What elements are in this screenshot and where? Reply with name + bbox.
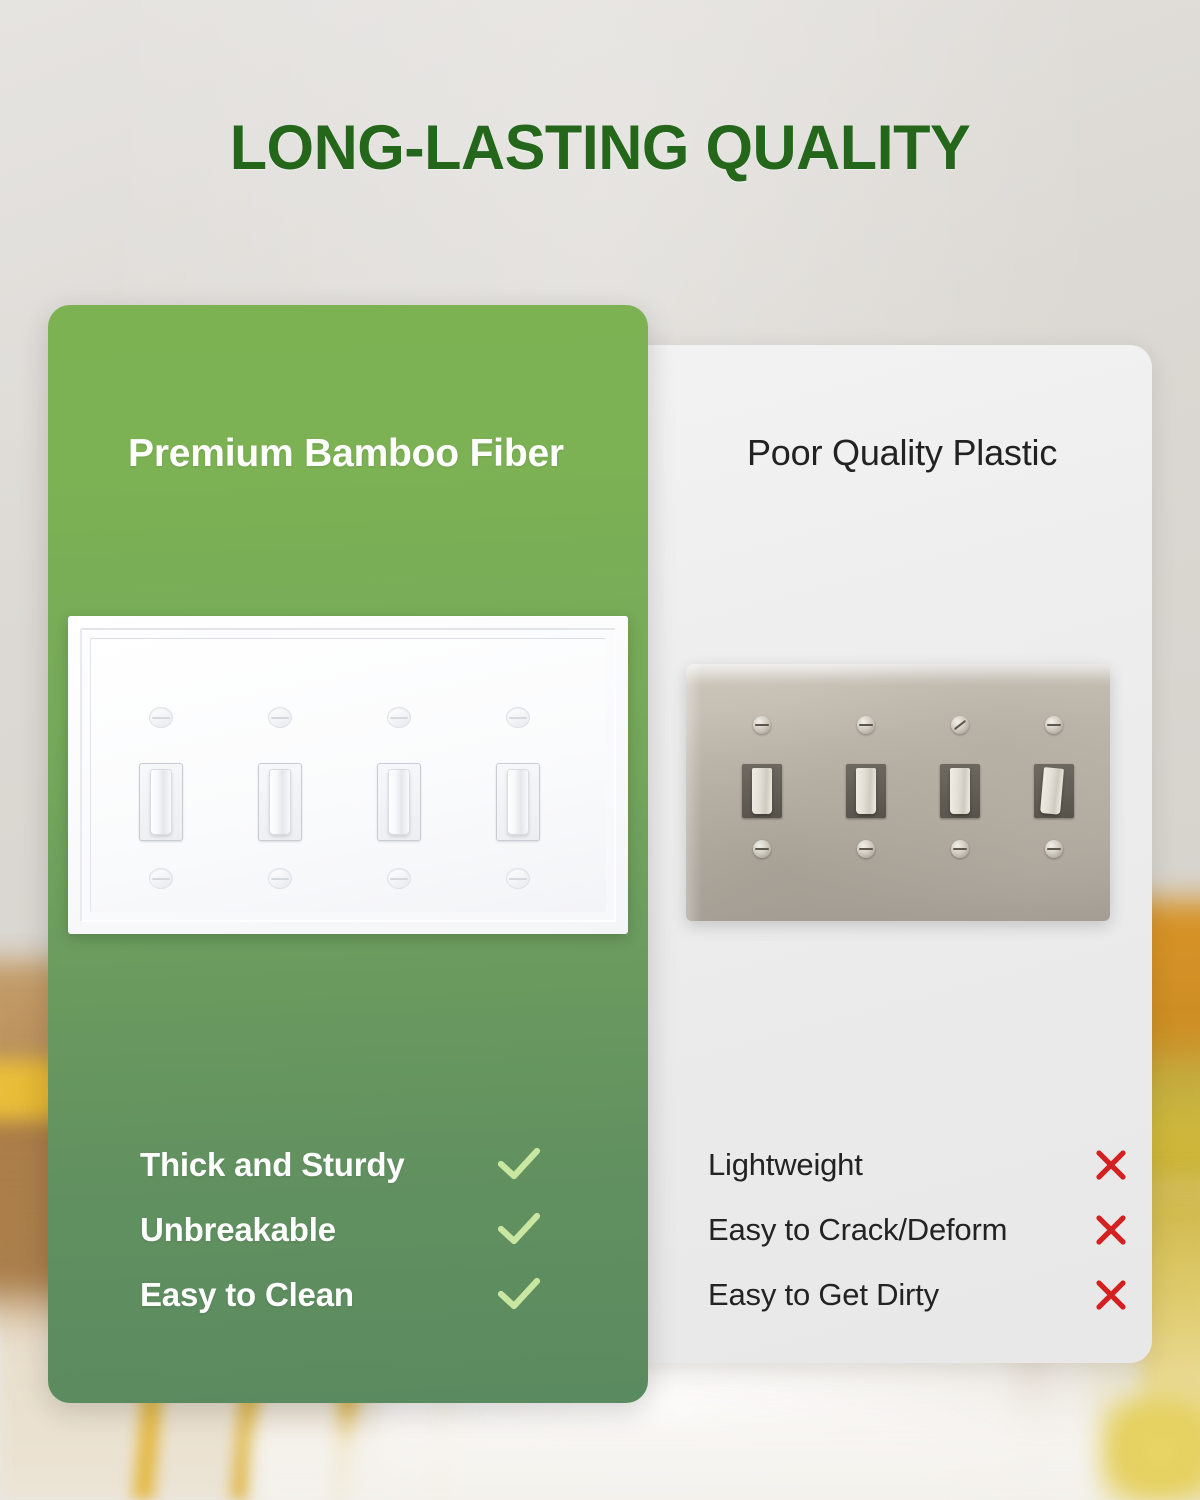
screw-icon [506,868,530,889]
toggle-switch-lever [856,768,876,814]
check-icon [497,1275,541,1313]
feature-label: Easy to Get Dirty [708,1277,939,1313]
toggle-switch-lever [950,768,970,814]
feature-row: Lightweight [708,1132,1128,1197]
cross-icon [1094,1148,1128,1182]
plastic-plate-gang-3 [908,678,1012,898]
plastic-plate-gang-2 [814,678,918,898]
check-icon [497,1210,541,1248]
toggle-switch-frame [846,764,886,818]
panel-heading-poor-plastic: Poor Quality Plastic [747,432,1057,474]
toggle-switch-lever [269,769,291,835]
feature-label: Easy to Clean [140,1276,354,1314]
check-icon [497,1145,541,1183]
screw-icon [268,868,292,889]
screw-icon [951,840,969,858]
screw-icon [857,716,875,734]
toggle-switch-frame [139,763,183,841]
feature-list-premium-bamboo: Thick and Sturdy Unbreakable Easy to Cle… [140,1132,590,1327]
bamboo-plate-gang-4 [460,669,576,927]
screw-icon [506,707,530,728]
toggle-switch-lever [507,769,529,835]
screw-icon [753,716,771,734]
screw-icon [1045,840,1063,858]
feature-list-poor-plastic: Lightweight Easy to Crack/Deform Easy to… [708,1132,1128,1327]
feature-row: Thick and Sturdy [140,1132,590,1197]
screw-icon [268,707,292,728]
toggle-switch-frame [496,763,540,841]
feature-label: Lightweight [708,1147,863,1183]
screw-icon [951,716,969,734]
screw-icon [857,840,875,858]
page-title: LONG-LASTING QUALITY [18,112,1182,184]
screw-icon [387,707,411,728]
toggle-switch-frame [377,763,421,841]
toggle-switch-frame [1034,764,1074,818]
toggle-switch-lever [150,769,172,835]
panel-heading-premium-bamboo: Premium Bamboo Fiber [128,432,564,476]
screw-icon [149,707,173,728]
cross-icon [1094,1278,1128,1312]
toggle-switch-lever [1040,767,1064,815]
screw-icon [387,868,411,889]
feature-row: Easy to Clean [140,1262,590,1327]
bamboo-plate-gang-1 [103,669,219,927]
toggle-switch-frame [940,764,980,818]
feature-label: Thick and Sturdy [140,1146,405,1184]
feature-label: Unbreakable [140,1211,336,1249]
plastic-plate-gang-1 [710,678,814,898]
cross-icon [1094,1213,1128,1247]
plate-bevel-inner [90,638,606,912]
plastic-plate-gang-4 [1002,678,1106,898]
toggle-switch-frame [258,763,302,841]
bamboo-plate-gang-2 [222,669,338,927]
screw-icon [1045,716,1063,734]
feature-row: Easy to Get Dirty [708,1262,1128,1327]
toggle-switch-frame [742,764,782,818]
screw-icon [149,868,173,889]
toggle-switch-lever [388,769,410,835]
toggle-switch-lever [752,768,772,814]
screw-icon [753,840,771,858]
feature-row: Unbreakable [140,1197,590,1262]
bamboo-plate-gang-3 [341,669,457,927]
feature-label: Easy to Crack/Deform [708,1212,1007,1248]
product-image-bamboo-wall-plate [68,616,628,934]
feature-row: Easy to Crack/Deform [708,1197,1128,1262]
product-image-plastic-wall-plate [686,664,1110,921]
